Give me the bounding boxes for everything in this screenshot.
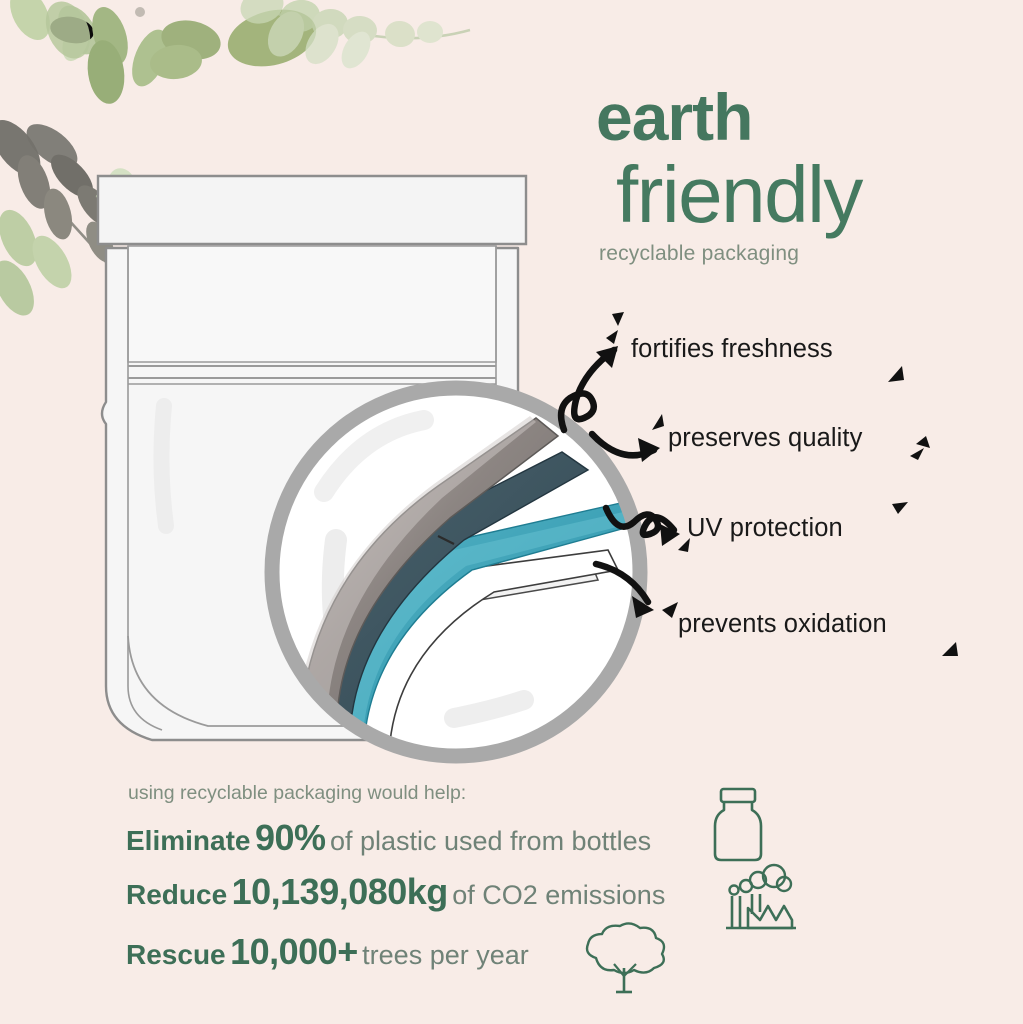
headline-line-2: friendly [616, 154, 996, 236]
stats-intro-text: using recyclable packaging would help: [128, 782, 766, 805]
feature-label-preserves-quality: preserves quality [668, 424, 862, 453]
infographic-canvas: earth friendly recyclable packaging fort… [0, 0, 1023, 1024]
factory-icon [722, 862, 798, 934]
headline-line-1: earth [596, 84, 996, 150]
accent-tick-icon [884, 500, 912, 524]
feature-label-prevents-oxidation: prevents oxidation [678, 610, 887, 639]
stat-verb: Reduce [126, 879, 227, 910]
accent-tick-icon [604, 312, 634, 346]
stat-rest: of plastic used from bottles [330, 826, 651, 856]
tree-icon [576, 920, 672, 1000]
stat-number: 10,000+ [230, 931, 358, 972]
feature-label-fortifies-freshness: fortifies freshness [631, 335, 833, 364]
stat-row: Reduce 10,139,080kg of CO2 emissions [126, 873, 766, 911]
accent-tick-icon [908, 434, 934, 462]
page-title: earth friendly recyclable packaging [596, 84, 996, 266]
stat-row: Eliminate 90% of plastic used from bottl… [126, 819, 766, 857]
stat-rest: trees per year [362, 940, 529, 970]
stat-rest: of CO2 emissions [452, 880, 665, 910]
accent-tick-icon [938, 634, 964, 660]
stat-number: 10,139,080kg [232, 871, 448, 912]
bottle-icon [710, 786, 766, 864]
accent-tick-icon [886, 360, 912, 386]
stat-verb: Rescue [126, 939, 226, 970]
feature-label-uv-protection: UV protection [687, 514, 843, 543]
stat-verb: Eliminate [126, 825, 250, 856]
stat-number: 90% [255, 817, 326, 858]
headline-subtitle: recyclable packaging [599, 242, 996, 266]
